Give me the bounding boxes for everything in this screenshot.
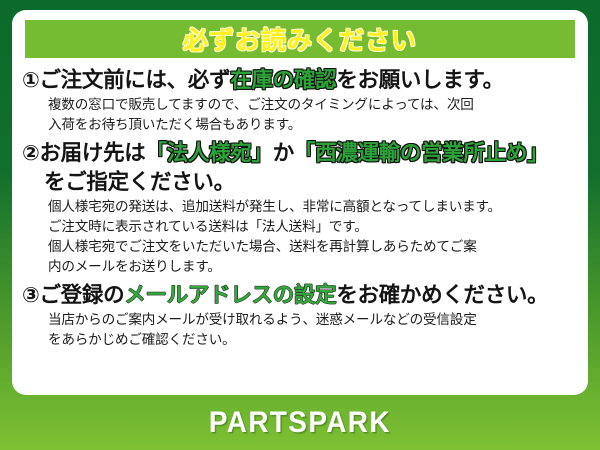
notice-heading-3: ③ご登録のメールアドレスの設定をお確かめください。 xyxy=(22,281,580,310)
notice-body-2-line-2: ご注文時に表示されている送料は「法人送料」です。 xyxy=(22,217,580,237)
notice-body-1-line-2: 入荷をお待ち頂いただく場合もあります。 xyxy=(22,115,580,135)
notice-body-2-line-3: 個人様宅宛でご注文をいただいた場合、送料を再計算しあらためてご案 xyxy=(22,237,580,257)
notice-number-3: ③ xyxy=(22,283,39,307)
banner-title: 必ずお読みください xyxy=(183,21,417,57)
notice-body-1-line-1: 複数の窓口で販売してますので、ご注文のタイミングによっては、次回 xyxy=(22,95,580,115)
footer-band: PARTSPARK xyxy=(0,395,600,450)
notice-card: 必ずお読みください ①ご注文前には、必ず在庫の確認をお願いします。 複数の窓口で… xyxy=(0,0,600,450)
content-panel: 必ずお読みください ①ご注文前には、必ず在庫の確認をお願いします。 複数の窓口で… xyxy=(12,10,588,395)
notice-item-1: ①ご注文前には、必ず在庫の確認をお願いします。 複数の窓口で販売してますので、ご… xyxy=(22,66,580,135)
notice-body-3-line-1: 当店からのご案内メールが受け取れるよう、迷惑メールなどの受信設定 xyxy=(22,310,580,330)
notice-body-2-line-4: 内のメールをお送りします。 xyxy=(22,257,580,277)
notice-number-1: ① xyxy=(22,68,39,92)
notice-list: ①ご注文前には、必ず在庫の確認をお願いします。 複数の窓口で販売してますので、ご… xyxy=(12,66,588,354)
notice-body-3-line-2: をあらかじめご確認ください。 xyxy=(22,330,580,350)
notice-heading-3-part-2: をお確かめください。 xyxy=(336,283,548,308)
notice-body-2-line-1: 個人様宅宛の発送は、追加送料が発生し、非常に高額となってしまいます。 xyxy=(22,197,580,217)
notice-item-2: ②お届け先は「法人様宛」か「西濃運輸の営業所止め」 をご指定ください。 個人様宅… xyxy=(22,139,580,277)
notice-heading-2-part-2: か xyxy=(273,141,294,166)
brand-logo: PARTSPARK xyxy=(209,406,391,440)
notice-heading-2-emphasis-2: 「西濃運輸の営業所止め」 xyxy=(294,141,548,166)
notice-heading-2: ②お届け先は「法人様宛」か「西濃運輸の営業所止め」 xyxy=(22,139,580,168)
notice-heading-2-part-1: お届け先は xyxy=(39,141,145,166)
notice-heading-2-line-2: をご指定ください。 xyxy=(22,168,580,197)
title-banner: 必ずお読みください xyxy=(25,20,575,58)
notice-heading-1-part-1: ご注文前には、必ず xyxy=(39,68,230,93)
notice-heading-1-emphasis: 在庫の確認 xyxy=(230,68,336,93)
notice-heading-1: ①ご注文前には、必ず在庫の確認をお願いします。 xyxy=(22,66,580,95)
notice-heading-2-emphasis-1: 「法人様宛」 xyxy=(146,141,273,166)
notice-number-2: ② xyxy=(22,141,39,165)
notice-heading-3-part-1: ご登録の xyxy=(39,283,124,308)
notice-heading-3-emphasis: メールアドレスの設定 xyxy=(124,283,336,308)
notice-heading-1-part-2: をお願いします。 xyxy=(336,68,503,93)
notice-item-3: ③ご登録のメールアドレスの設定をお確かめください。 当店からのご案内メールが受け… xyxy=(22,281,580,350)
